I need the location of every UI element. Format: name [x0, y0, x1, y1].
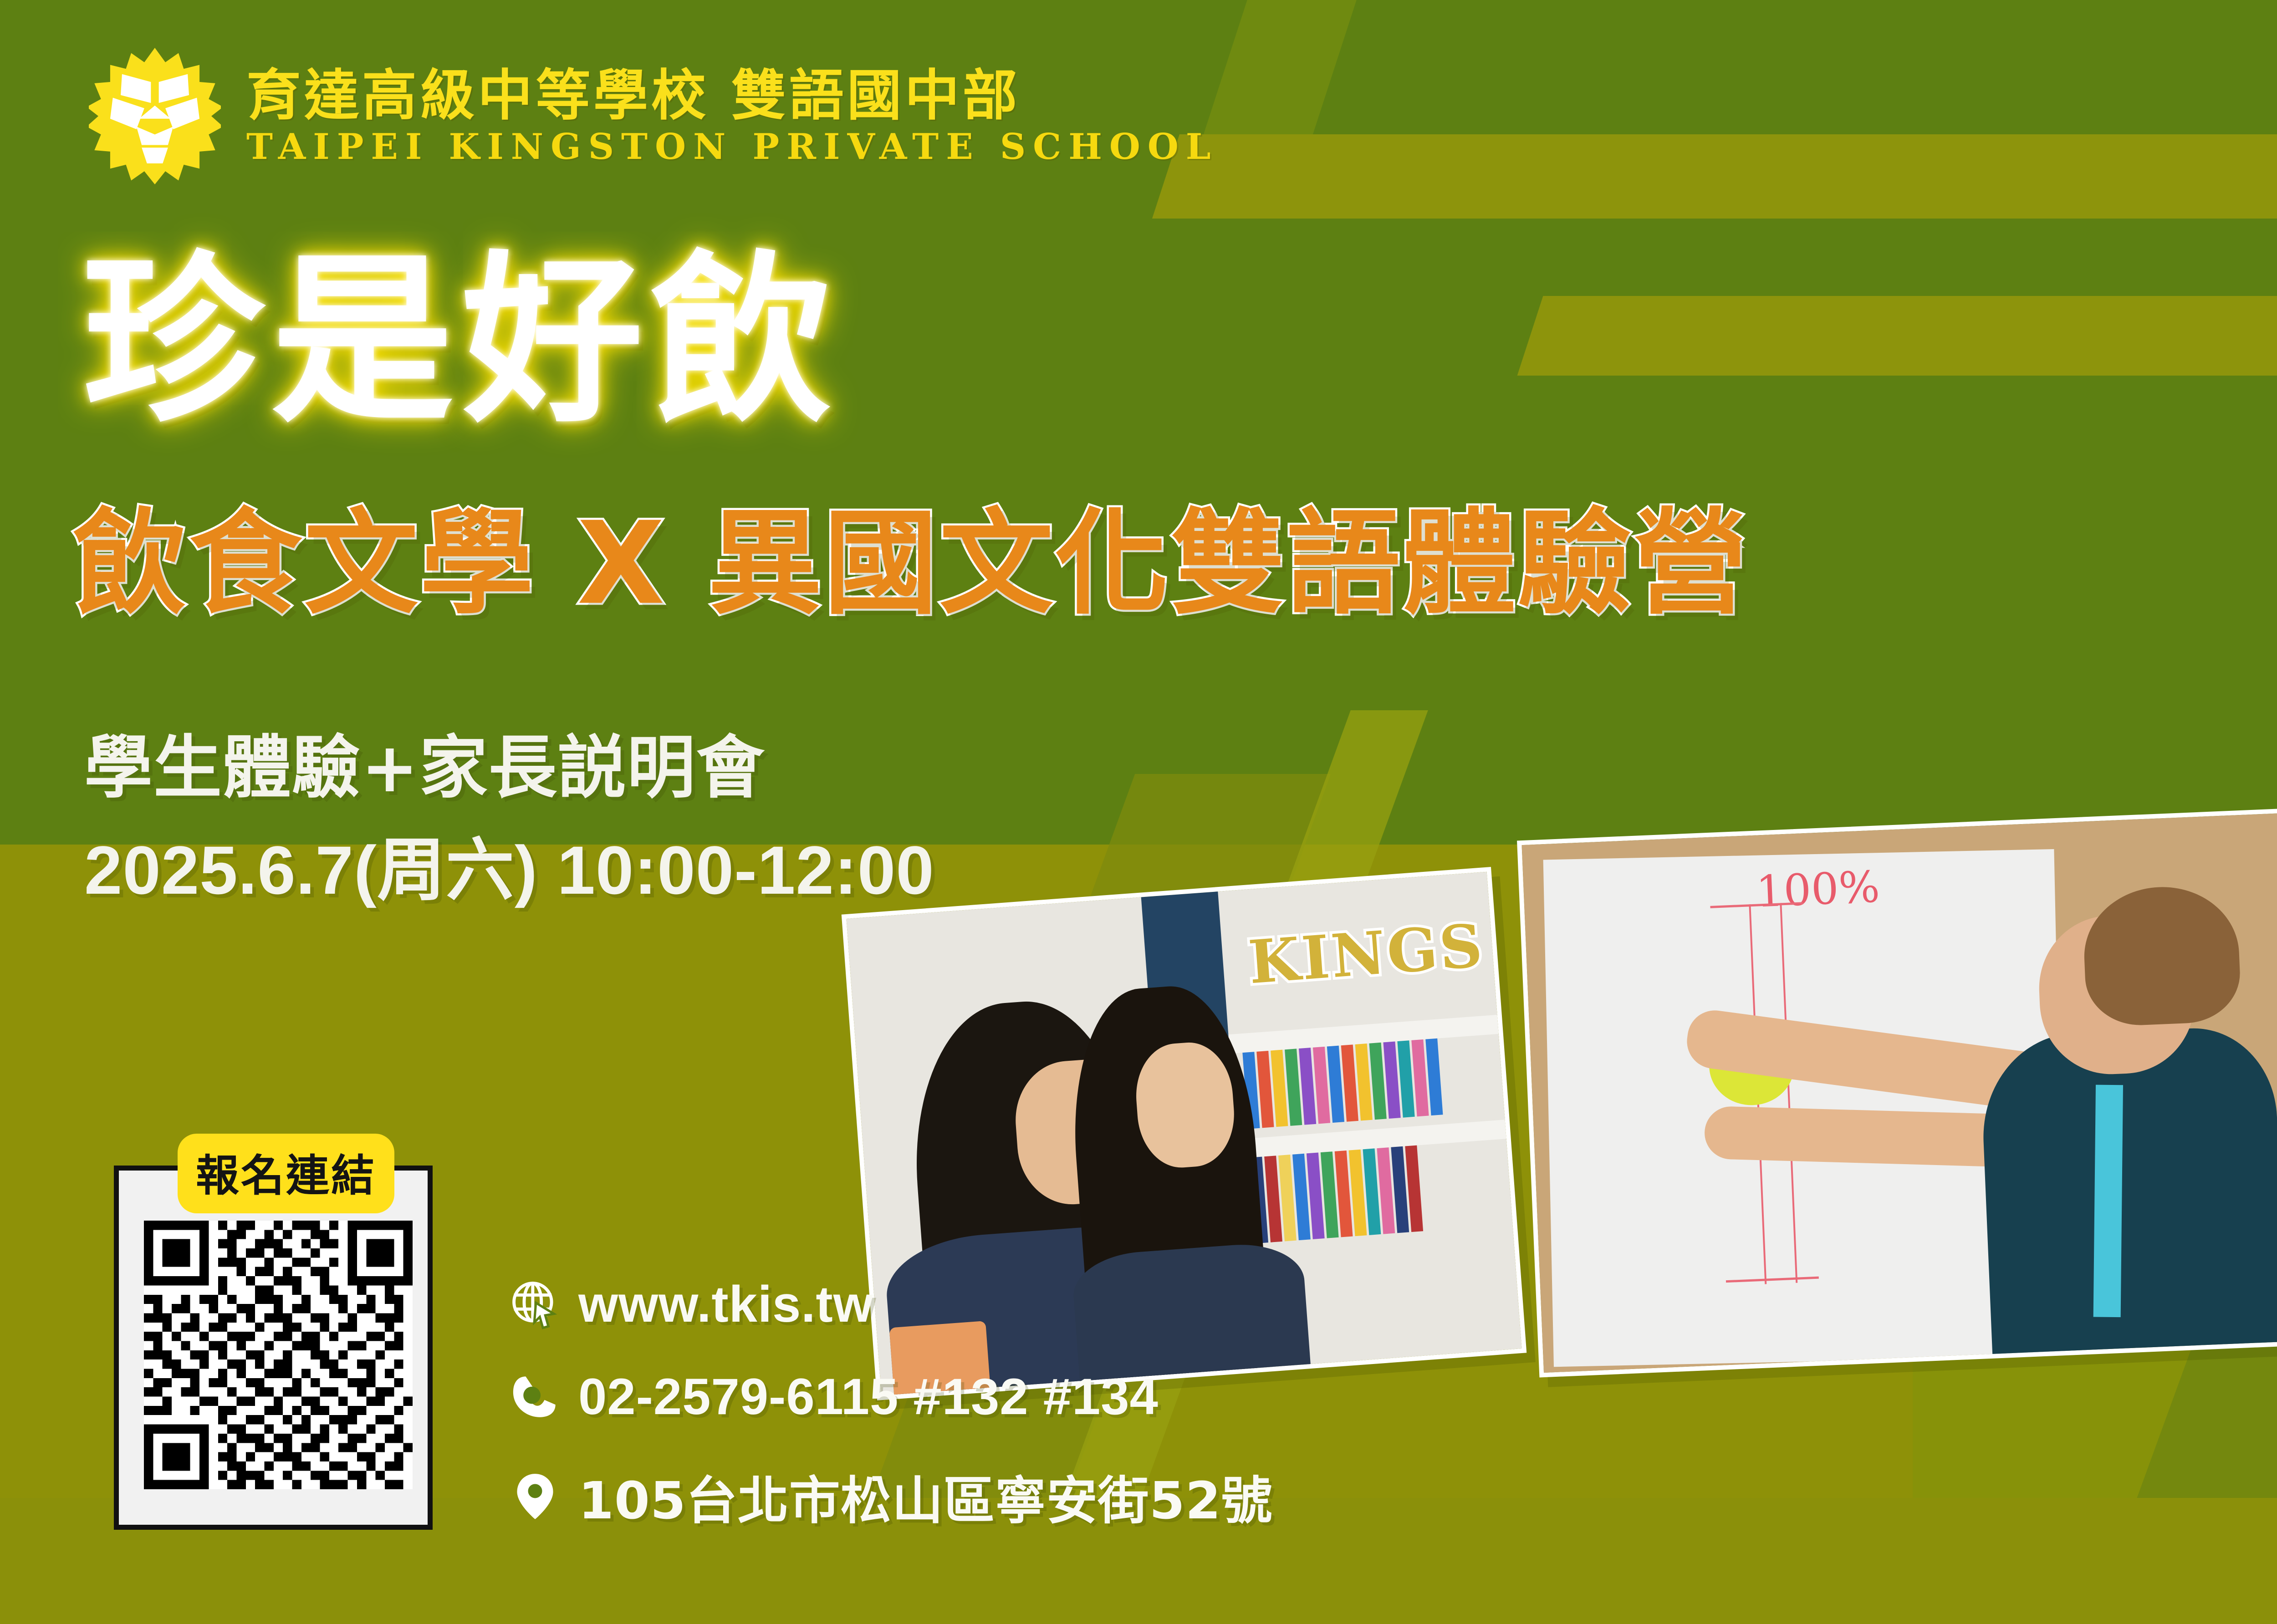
contact-website-value: www.tkis.tw [578, 1275, 873, 1334]
contact-address[interactable]: 105台北市松山區寧安街52號 [510, 1460, 1273, 1533]
qr-code[interactable] [144, 1221, 413, 1489]
photo-teacher-whiteboard: 100% [1517, 808, 2277, 1378]
event-banner: 育達高級中等學校 雙語國中部 TAIPEI KINGSTON PRIVATE S… [0, 0, 2277, 1624]
school-name-cn: 育達高級中等學校 雙語國中部 [246, 66, 1218, 126]
contact-list: www.tkis.tw 02-2579-6115 #132 #134 105台北… [510, 1275, 1273, 1567]
lion-crest-icon [89, 48, 221, 184]
event-detail-line: 學生體驗+家長説明會 [84, 713, 766, 811]
brand-header: 育達高級中等學校 雙語國中部 TAIPEI KINGSTON PRIVATE S… [89, 48, 1218, 184]
contact-website[interactable]: www.tkis.tw [510, 1275, 1273, 1334]
contact-phone[interactable]: 02-2579-6115 #132 #134 [510, 1367, 1273, 1426]
page-subtitle: 飲食文學 X 異國文化雙語體驗營 [73, 501, 1749, 626]
registration-badge: 報名連結 [178, 1134, 394, 1213]
decor-stripe [1517, 296, 2277, 376]
contact-phone-value: 02-2579-6115 #132 #134 [578, 1367, 1159, 1426]
contact-address-value: 105台北市松山區寧安街52號 [578, 1460, 1273, 1533]
qr-code-panel[interactable] [114, 1166, 433, 1530]
decor-stripe [1152, 134, 2277, 219]
page-title: 珍是好飲 [82, 246, 840, 437]
photo-caption: 100% [1755, 862, 1881, 917]
decor-stripe [1203, 0, 1356, 137]
event-datetime: 2025.6.7(周六) 10:00-12:00 [84, 815, 934, 914]
phone-icon [510, 1372, 560, 1422]
school-name-en: TAIPEI KINGSTON PRIVATE SCHOOL [246, 128, 1218, 166]
globe-cursor-icon [510, 1279, 560, 1329]
location-pin-icon [510, 1471, 560, 1522]
